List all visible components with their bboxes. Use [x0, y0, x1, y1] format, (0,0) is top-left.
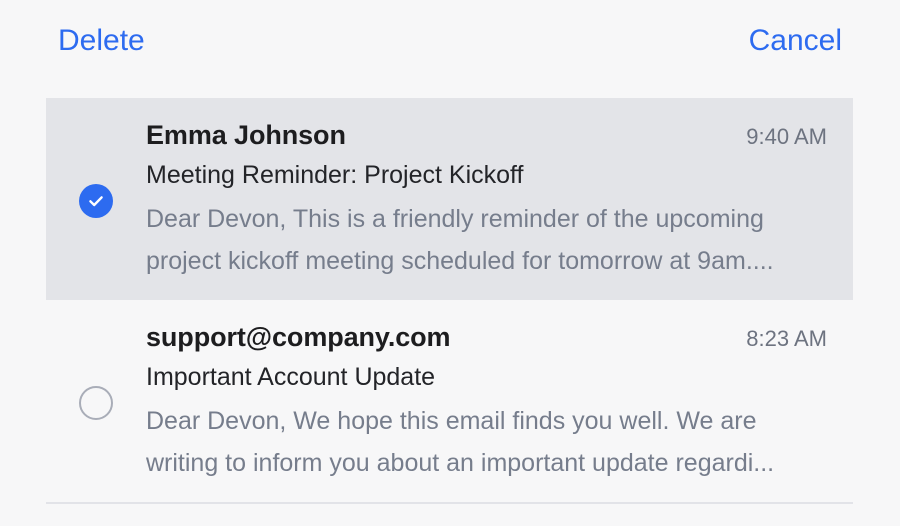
- list-divider: [46, 502, 853, 504]
- toolbar: Delete Cancel: [0, 0, 900, 82]
- cancel-button[interactable]: Cancel: [749, 26, 842, 56]
- selection-control[interactable]: [46, 322, 146, 484]
- timestamp: 8:23 AM: [746, 326, 833, 352]
- email-selection-screen: Delete Cancel Emma Johnson 9:40 AM Meeti…: [0, 0, 900, 526]
- circle-outline-icon[interactable]: [79, 386, 113, 420]
- check-circle-filled-icon[interactable]: [79, 184, 113, 218]
- sender-name: support@company.com: [146, 322, 450, 353]
- list-item[interactable]: Emma Johnson 9:40 AM Meeting Reminder: P…: [46, 98, 853, 300]
- message-list: Emma Johnson 9:40 AM Meeting Reminder: P…: [46, 98, 853, 504]
- delete-button[interactable]: Delete: [58, 26, 145, 56]
- list-item[interactable]: support@company.com 8:23 AM Important Ac…: [46, 300, 853, 502]
- sender-name: Emma Johnson: [146, 120, 346, 151]
- message-header: Emma Johnson 9:40 AM: [146, 120, 833, 151]
- preview-text: Dear Devon, This is a friendly reminder …: [146, 198, 818, 282]
- preview-text: Dear Devon, We hope this email finds you…: [146, 400, 818, 484]
- subject-line: Meeting Reminder: Project Kickoff: [146, 161, 833, 190]
- subject-line: Important Account Update: [146, 363, 833, 392]
- message-content: Emma Johnson 9:40 AM Meeting Reminder: P…: [146, 120, 853, 282]
- message-header: support@company.com 8:23 AM: [146, 322, 833, 353]
- message-content: support@company.com 8:23 AM Important Ac…: [146, 322, 853, 484]
- timestamp: 9:40 AM: [746, 124, 833, 150]
- selection-control[interactable]: [46, 120, 146, 282]
